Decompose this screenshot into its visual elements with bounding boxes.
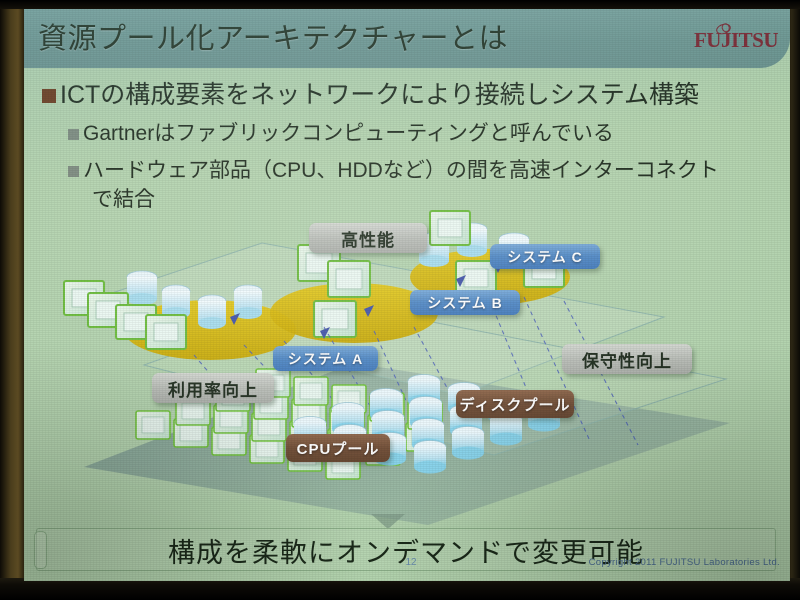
callout-maintainability-up: 保守性向上: [562, 344, 692, 374]
bullet-level1: ICTの構成要素をネットワークにより接続しシステム構築: [42, 75, 699, 111]
callout-utilization-up: 利用率向上: [152, 373, 274, 403]
callout-system-c: システム C: [490, 244, 600, 269]
bullet-text: ハードウェア部品（CPU、HDDなど）の間を高速インターコネクト: [83, 159, 719, 182]
bullet-text: ICTの構成要素をネットワークにより接続しシステム構築: [60, 81, 699, 109]
bullet-marker-icon: [68, 129, 79, 140]
page-number: 12: [381, 557, 441, 568]
screen-frame-left: [0, 0, 24, 600]
callout-cpu-pool: CPUプール: [286, 434, 390, 462]
screen-frame-bottom: [0, 578, 800, 600]
projected-slide-photo: 資源プール化アーキテクチャーとは FUJITSU ICTの構成要素をネットワーク…: [0, 0, 800, 600]
page-title: 資源プール化アーキテクチャーとは: [38, 15, 508, 57]
screen-frame-top: [0, 0, 800, 9]
bullet-marker-icon: [42, 89, 56, 103]
slide-title-band: 資源プール化アーキテクチャーとは FUJITSU: [24, 9, 790, 68]
callout-high-performance: 高性能: [309, 223, 427, 253]
copyright-notice: Copyright 2011 FUJITSU Laboratories Ltd.: [589, 557, 780, 568]
bullet-text: Gartnerはファブリックコンピューティングと呼んでいる: [83, 122, 614, 145]
bullet-level2-hardware: ハードウェア部品（CPU、HDDなど）の間を高速インターコネクト: [68, 154, 719, 184]
callout-system-b: システム B: [410, 290, 520, 315]
fujitsu-wordmark: FUJITSU: [692, 26, 778, 54]
callout-system-a: システム A: [273, 346, 378, 371]
presentation-slide: 資源プール化アーキテクチャーとは FUJITSU ICTの構成要素をネットワーク…: [24, 9, 790, 581]
fujitsu-logo: FUJITSU: [692, 26, 778, 54]
callout-disk-pool: ディスクプール: [456, 390, 574, 418]
bullet-level2-gartner: Gartnerはファブリックコンピューティングと呼んでいる: [68, 117, 614, 147]
bullet-marker-icon: [68, 166, 79, 177]
down-arrow-icon: [371, 514, 405, 529]
